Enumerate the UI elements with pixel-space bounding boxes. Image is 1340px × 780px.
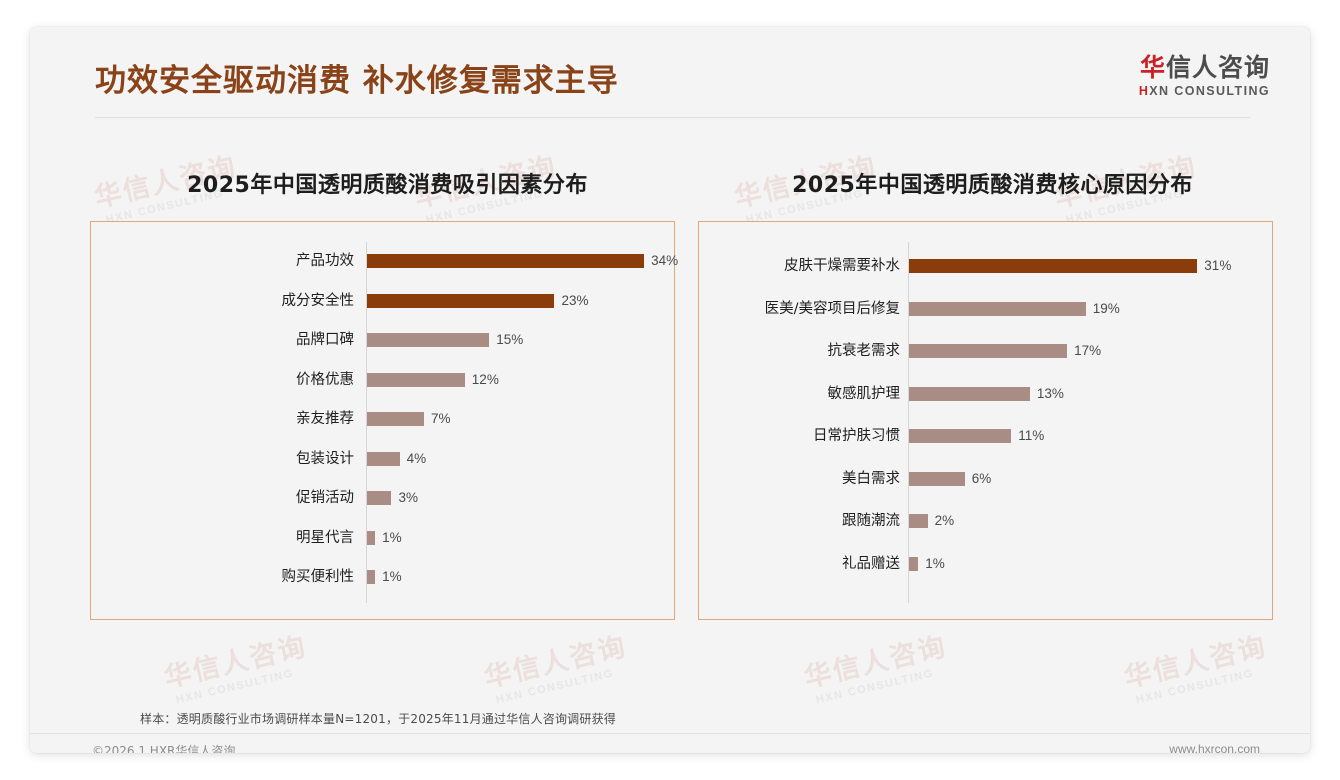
bar-fill[interactable] xyxy=(367,254,644,268)
bar-fill[interactable] xyxy=(909,429,1011,443)
watermark-en: HXN CONSULTING xyxy=(1135,663,1273,706)
bar-fill[interactable] xyxy=(367,531,375,545)
bar-value-label: 17% xyxy=(1074,340,1101,362)
plot-area-left: 产品功效34%成分安全性23%品牌口碑15%价格优惠12%亲友推荐7%包装设计4… xyxy=(91,222,674,619)
logo-english-text: HXN CONSULTING xyxy=(1139,84,1270,98)
bar-category-label: 跟随潮流 xyxy=(695,510,900,532)
bar-track xyxy=(909,259,1197,273)
watermark-cn: 华信人咨询 xyxy=(480,624,630,695)
watermark-en: HXN CONSULTING xyxy=(495,663,633,706)
bar-track xyxy=(367,531,375,545)
source-footnote: 样本：透明质酸行业市场调研样本量N=1201，于2025年11月通过华信人咨询调… xyxy=(140,710,616,727)
logo-rest-chars: 信人咨询 xyxy=(1166,53,1270,82)
bar-fill[interactable] xyxy=(909,259,1197,273)
y-axis-line xyxy=(908,242,909,603)
bar-value-label: 7% xyxy=(431,408,451,430)
bar-value-label: 1% xyxy=(382,566,402,588)
watermark-cn: 华信人咨询 xyxy=(1120,624,1270,695)
bar-value-label: 3% xyxy=(398,487,418,509)
logo-en-accent: H xyxy=(1139,84,1149,98)
watermark-en: HXN CONSULTING xyxy=(175,663,313,706)
bar-track xyxy=(909,557,918,571)
bar-value-label: 19% xyxy=(1093,298,1120,320)
bar-track xyxy=(367,570,375,584)
bar-value-label: 4% xyxy=(407,448,427,470)
watermark-tile: 华信人咨询HXN CONSULTING xyxy=(800,624,953,707)
bar-fill[interactable] xyxy=(367,412,424,426)
bar-track xyxy=(909,344,1067,358)
bar-track xyxy=(909,472,965,486)
chart-attraction-factors: 2025年中国透明质酸消费吸引因素分布 产品功效34%成分安全性23%品牌口碑1… xyxy=(90,167,675,620)
bar-value-label: 11% xyxy=(1018,425,1044,447)
bar-fill[interactable] xyxy=(367,570,375,584)
slide-footer: ©2026.1 HXR华信人咨询 www.hxrcon.com xyxy=(30,734,1310,753)
watermark-en: HXN CONSULTING xyxy=(815,663,953,706)
bar-fill[interactable] xyxy=(909,344,1067,358)
bar-category-label: 礼品赠送 xyxy=(695,553,900,575)
bar-category-label: 抗衰老需求 xyxy=(695,340,900,362)
chart-panel-left: 产品功效34%成分安全性23%品牌口碑15%价格优惠12%亲友推荐7%包装设计4… xyxy=(90,221,675,620)
chart-title-left: 2025年中国透明质酸消费吸引因素分布 xyxy=(90,167,675,199)
bar-category-label: 购买便利性 xyxy=(114,566,354,588)
chart-title-right: 2025年中国透明质酸消费核心原因分布 xyxy=(698,167,1273,199)
logo-en-rest: XN CONSULTING xyxy=(1149,84,1270,98)
bar-value-label: 31% xyxy=(1204,255,1231,277)
bar-fill[interactable] xyxy=(909,302,1086,316)
bar-fill[interactable] xyxy=(909,514,928,528)
bar-track xyxy=(909,514,928,528)
bar-fill[interactable] xyxy=(367,294,554,308)
bar-fill[interactable] xyxy=(367,452,400,466)
header-divider xyxy=(95,117,1250,118)
bar-value-label: 23% xyxy=(561,290,588,312)
bar-fill[interactable] xyxy=(367,333,489,347)
bar-track xyxy=(367,294,554,308)
bar-track xyxy=(367,452,400,466)
bar-track xyxy=(909,387,1030,401)
bar-value-label: 34% xyxy=(651,250,678,272)
bar-category-label: 敏感肌护理 xyxy=(695,383,900,405)
bar-value-label: 6% xyxy=(972,468,992,490)
bar-fill[interactable] xyxy=(909,472,965,486)
watermark-cn: 华信人咨询 xyxy=(800,624,950,695)
slide-canvas: 华信人咨询HXN CONSULTING华信人咨询HXN CONSULTING华信… xyxy=(30,27,1310,753)
bar-category-label: 亲友推荐 xyxy=(114,408,354,430)
bar-fill[interactable] xyxy=(909,557,918,571)
bar-fill[interactable] xyxy=(909,387,1030,401)
bar-category-label: 包装设计 xyxy=(114,448,354,470)
bar-category-label: 皮肤干燥需要补水 xyxy=(695,255,900,277)
bar-track xyxy=(367,333,489,347)
bar-track xyxy=(909,302,1086,316)
bar-value-label: 13% xyxy=(1037,383,1064,405)
bar-fill[interactable] xyxy=(367,373,465,387)
watermark-tile: 华信人咨询HXN CONSULTING xyxy=(1120,624,1273,707)
bar-category-label: 价格优惠 xyxy=(114,369,354,391)
bar-category-label: 产品功效 xyxy=(114,250,354,272)
footer-copyright: ©2026.1 HXR华信人咨询 xyxy=(92,742,235,753)
bar-track xyxy=(367,254,644,268)
bar-track xyxy=(909,429,1011,443)
bar-track xyxy=(367,373,465,387)
plot-area-right: 皮肤干燥需要补水31%医美/美容项目后修复19%抗衰老需求17%敏感肌护理13%… xyxy=(699,222,1272,619)
bar-category-label: 成分安全性 xyxy=(114,290,354,312)
bar-category-label: 日常护肤习惯 xyxy=(695,425,900,447)
page-title: 功效安全驱动消费 补水修复需求主导 xyxy=(95,55,619,100)
bar-category-label: 品牌口碑 xyxy=(114,329,354,351)
bar-category-label: 医美/美容项目后修复 xyxy=(695,298,900,320)
footer-website[interactable]: www.hxrcon.com xyxy=(1169,742,1260,753)
bar-value-label: 1% xyxy=(382,527,402,549)
bar-category-label: 美白需求 xyxy=(695,468,900,490)
bar-track xyxy=(367,412,424,426)
watermark-tile: 华信人咨询HXN CONSULTING xyxy=(160,624,313,707)
logo-chinese-text: 华信人咨询 xyxy=(1139,55,1270,81)
company-logo: 华信人咨询 HXN CONSULTING xyxy=(1139,55,1270,98)
bar-value-label: 1% xyxy=(925,553,945,575)
bar-value-label: 12% xyxy=(472,369,499,391)
bar-track xyxy=(367,491,391,505)
bar-fill[interactable] xyxy=(367,491,391,505)
logo-accent-char: 华 xyxy=(1140,53,1166,82)
bar-category-label: 明星代言 xyxy=(114,527,354,549)
slide-header: 功效安全驱动消费 补水修复需求主导 华信人咨询 HXN CONSULTING xyxy=(30,27,1310,123)
watermark-tile: 华信人咨询HXN CONSULTING xyxy=(480,624,633,707)
bar-value-label: 15% xyxy=(496,329,523,351)
watermark-cn: 华信人咨询 xyxy=(160,624,310,695)
chart-panel-right: 皮肤干燥需要补水31%医美/美容项目后修复19%抗衰老需求17%敏感肌护理13%… xyxy=(698,221,1273,620)
bar-category-label: 促销活动 xyxy=(114,487,354,509)
chart-core-reasons: 2025年中国透明质酸消费核心原因分布 皮肤干燥需要补水31%医美/美容项目后修… xyxy=(698,167,1273,620)
bar-value-label: 2% xyxy=(935,510,955,532)
